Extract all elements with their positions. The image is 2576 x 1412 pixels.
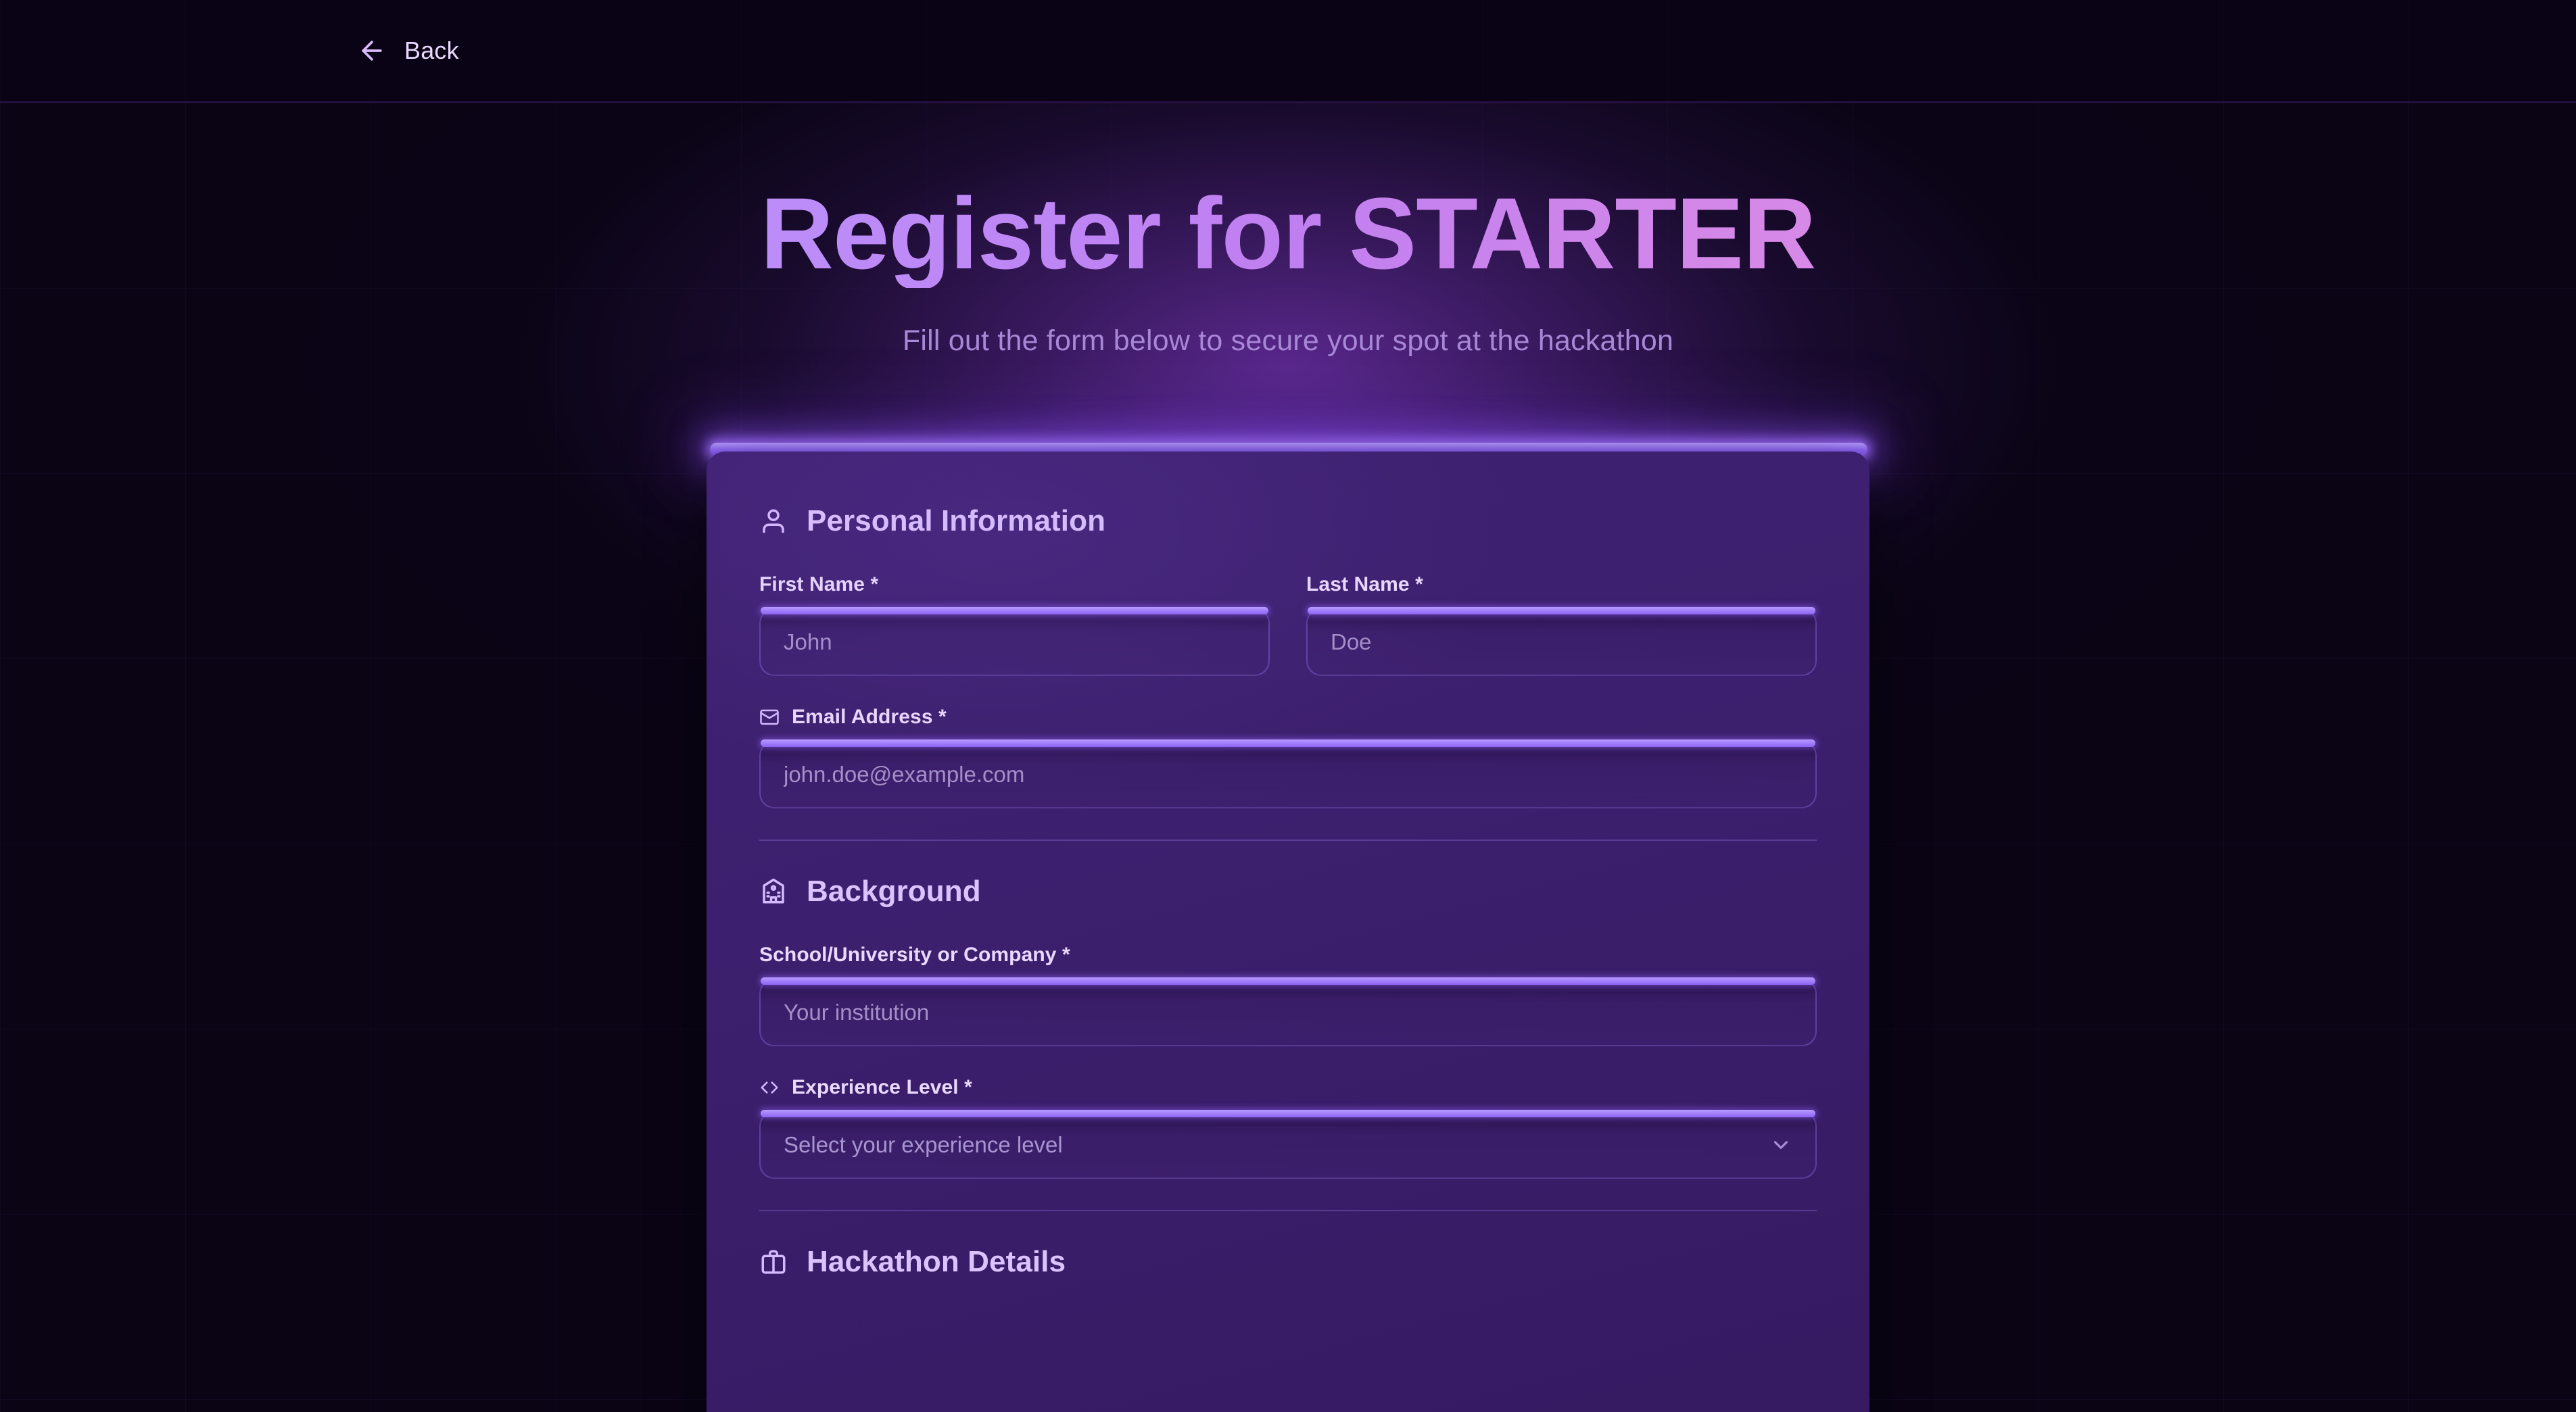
experience-level-select[interactable]: Select your experience level [759, 1111, 1817, 1179]
registration-page: Back Register for STARTER Fill out the f… [0, 0, 2576, 1412]
first-name-input[interactable] [759, 608, 1270, 676]
label-text: Email Address * [792, 706, 947, 729]
page-subtitle: Fill out the form below to secure your s… [0, 324, 2576, 358]
first-name-input-wrapper [759, 608, 1270, 676]
experience-level-value: Select your experience level [784, 1132, 1063, 1158]
label-text: First Name * [759, 573, 878, 596]
experience-level-wrapper: Select your experience level [759, 1111, 1817, 1179]
chevron-down-icon [1769, 1134, 1792, 1157]
arrow-left-icon [357, 36, 387, 66]
section-title: Hackathon Details [807, 1245, 1066, 1279]
field-last-name: Last Name * [1306, 573, 1817, 676]
institution-input[interactable] [759, 979, 1817, 1046]
school-icon [759, 877, 788, 906]
section-title: Background [807, 875, 981, 908]
label-last-name: Last Name * [1306, 573, 1817, 596]
field-experience-level: Experience Level * Select your experienc… [759, 1076, 1817, 1179]
last-name-input[interactable] [1306, 608, 1817, 676]
last-name-input-wrapper [1306, 608, 1817, 676]
page-title: Register for STARTER [0, 178, 2576, 288]
name-fields-row: First Name * Last Name * [759, 573, 1817, 706]
back-button-label: Back [404, 36, 459, 65]
section-header-hackathon-details: Hackathon Details [759, 1245, 1817, 1279]
label-first-name: First Name * [759, 573, 1270, 596]
field-institution: School/University or Company * [759, 944, 1817, 1046]
label-email-address: Email Address * [759, 706, 1817, 729]
section-header-personal-information: Personal Information [759, 504, 1817, 538]
label-institution: School/University or Company * [759, 944, 1817, 967]
label-experience-level: Experience Level * [759, 1076, 1817, 1099]
section-divider-1 [759, 839, 1817, 841]
section-header-background: Background [759, 875, 1817, 908]
section-title: Personal Information [807, 504, 1105, 538]
section-divider-2 [759, 1210, 1817, 1211]
label-text: School/University or Company * [759, 944, 1070, 967]
user-icon [759, 507, 788, 535]
email-input-wrapper [759, 741, 1817, 808]
field-email-address: Email Address * [759, 706, 1817, 808]
hero-section: Register for STARTER Fill out the form b… [0, 103, 2576, 358]
code-brackets-icon [759, 1077, 780, 1098]
label-text: Last Name * [1306, 573, 1423, 596]
institution-input-wrapper [759, 979, 1817, 1046]
top-navigation-bar: Back [0, 0, 2576, 103]
registration-form-card: Personal Information First Name * Last N… [707, 452, 1869, 1412]
mail-icon [759, 707, 780, 727]
label-text: Experience Level * [792, 1076, 972, 1099]
briefcase-icon [759, 1248, 788, 1276]
email-input[interactable] [759, 741, 1817, 808]
field-first-name: First Name * [759, 573, 1270, 676]
back-button[interactable]: Back [349, 29, 467, 72]
